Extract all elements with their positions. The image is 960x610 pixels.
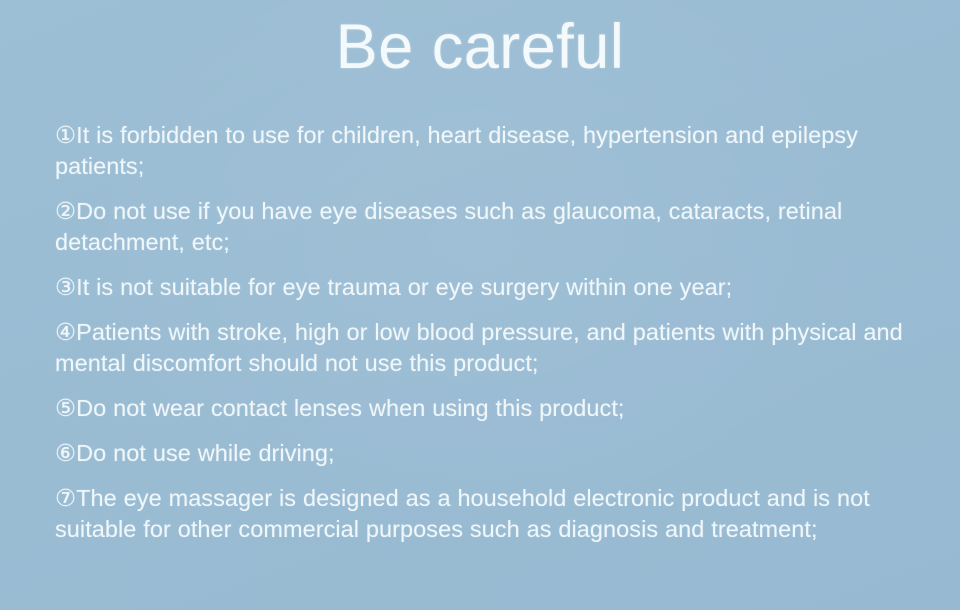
list-item-text: It is not suitable for eye trauma or eye… (76, 274, 732, 300)
list-item: ③It is not suitable for eye trauma or ey… (55, 272, 903, 303)
circled-number-6-icon: ⑥ (55, 440, 76, 466)
list-item: ②Do not use if you have eye diseases suc… (55, 196, 903, 258)
list-item: ⑤Do not wear contact lenses when using t… (55, 393, 903, 424)
list-item-text: It is forbidden to use for children, hea… (55, 122, 858, 179)
list-item-text: Do not use if you have eye diseases such… (55, 198, 842, 255)
list-item-text: Patients with stroke, high or low blood … (55, 319, 903, 376)
warning-card: Be careful ①It is forbidden to use for c… (0, 0, 960, 610)
circled-number-3-icon: ③ (55, 274, 76, 300)
list-item-text: Do not use while driving; (76, 440, 334, 466)
list-item: ⑥Do not use while driving; (55, 438, 903, 469)
precautions-list: ①It is forbidden to use for children, he… (55, 120, 903, 545)
list-item-text: The eye massager is designed as a househ… (55, 485, 870, 542)
circled-number-4-icon: ④ (55, 319, 76, 345)
circled-number-5-icon: ⑤ (55, 395, 76, 421)
circled-number-1-icon: ① (55, 122, 76, 148)
list-item-text: Do not wear contact lenses when using th… (76, 395, 624, 421)
page-title: Be careful (0, 16, 960, 79)
list-item: ⑦The eye massager is designed as a house… (55, 483, 903, 545)
list-item: ①It is forbidden to use for children, he… (55, 120, 903, 182)
circled-number-2-icon: ② (55, 198, 76, 224)
list-item: ④Patients with stroke, high or low blood… (55, 317, 903, 379)
circled-number-7-icon: ⑦ (55, 485, 76, 511)
